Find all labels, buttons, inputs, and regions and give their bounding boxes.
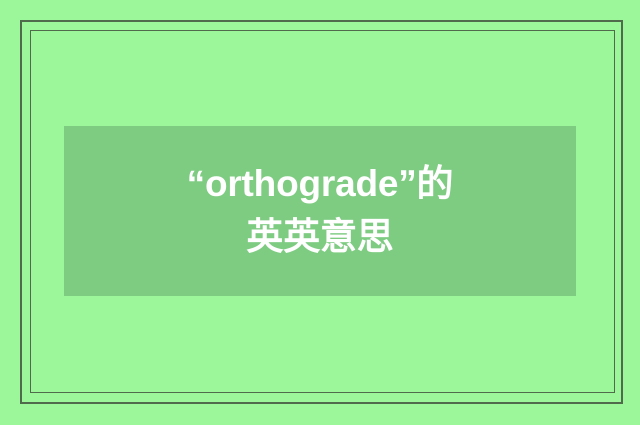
page-title: “orthograde”的英英意思 — [170, 158, 470, 263]
poster-canvas: “orthograde”的英英意思 — [0, 0, 640, 425]
title-panel: “orthograde”的英英意思 — [64, 126, 576, 296]
